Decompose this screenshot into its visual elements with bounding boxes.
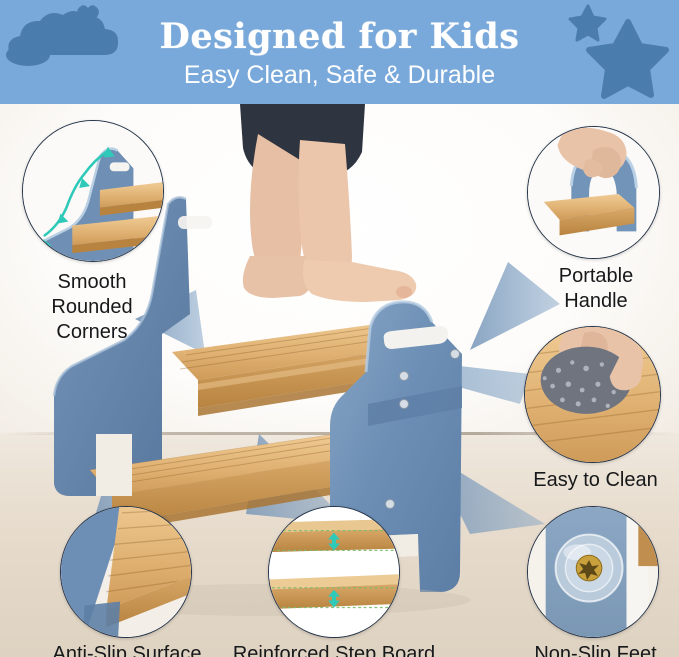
bubble-reinforced-step-board[interactable] bbox=[268, 506, 400, 638]
smooth-corners-detail bbox=[23, 121, 163, 261]
callout-label-anti-slip-surface: Anti-Slip Surface bbox=[22, 642, 232, 657]
callout-label-smooth-rounded-corners: Smooth Rounded Corners bbox=[8, 270, 176, 345]
bubble-easy-to-clean[interactable] bbox=[524, 326, 661, 463]
portable-handle-detail bbox=[528, 127, 659, 258]
infographic-page: Designed for Kids Easy Clean, Safe & Dur… bbox=[0, 0, 679, 657]
bubble-smooth-rounded-corners[interactable] bbox=[22, 120, 164, 262]
non-slip-feet-detail bbox=[528, 507, 658, 637]
callout-label-easy-to-clean: Easy to Clean bbox=[512, 468, 679, 493]
brass-screw-icon bbox=[576, 555, 602, 581]
page-title: Designed for Kids bbox=[0, 16, 679, 57]
bubble-anti-slip-surface[interactable] bbox=[60, 506, 192, 638]
callout-label-portable-handle: Portable Handle bbox=[520, 264, 672, 314]
anti-slip-detail bbox=[61, 507, 191, 637]
bubble-portable-handle[interactable] bbox=[527, 126, 660, 259]
header-banner: Designed for Kids Easy Clean, Safe & Dur… bbox=[0, 0, 679, 104]
reinforced-board-detail bbox=[269, 507, 399, 637]
page-subtitle: Easy Clean, Safe & Durable bbox=[0, 60, 679, 90]
easy-to-clean-detail bbox=[525, 327, 660, 462]
bubble-non-slip-feet[interactable] bbox=[527, 506, 659, 638]
callout-label-reinforced-step-board: Reinforced Step Board bbox=[218, 642, 450, 657]
product-scene: Smooth Rounded Corners bbox=[0, 104, 679, 657]
callout-label-non-slip-feet: Non-Slip Feet bbox=[512, 642, 679, 657]
leg-gap bbox=[96, 434, 132, 496]
child-figure bbox=[240, 104, 416, 302]
